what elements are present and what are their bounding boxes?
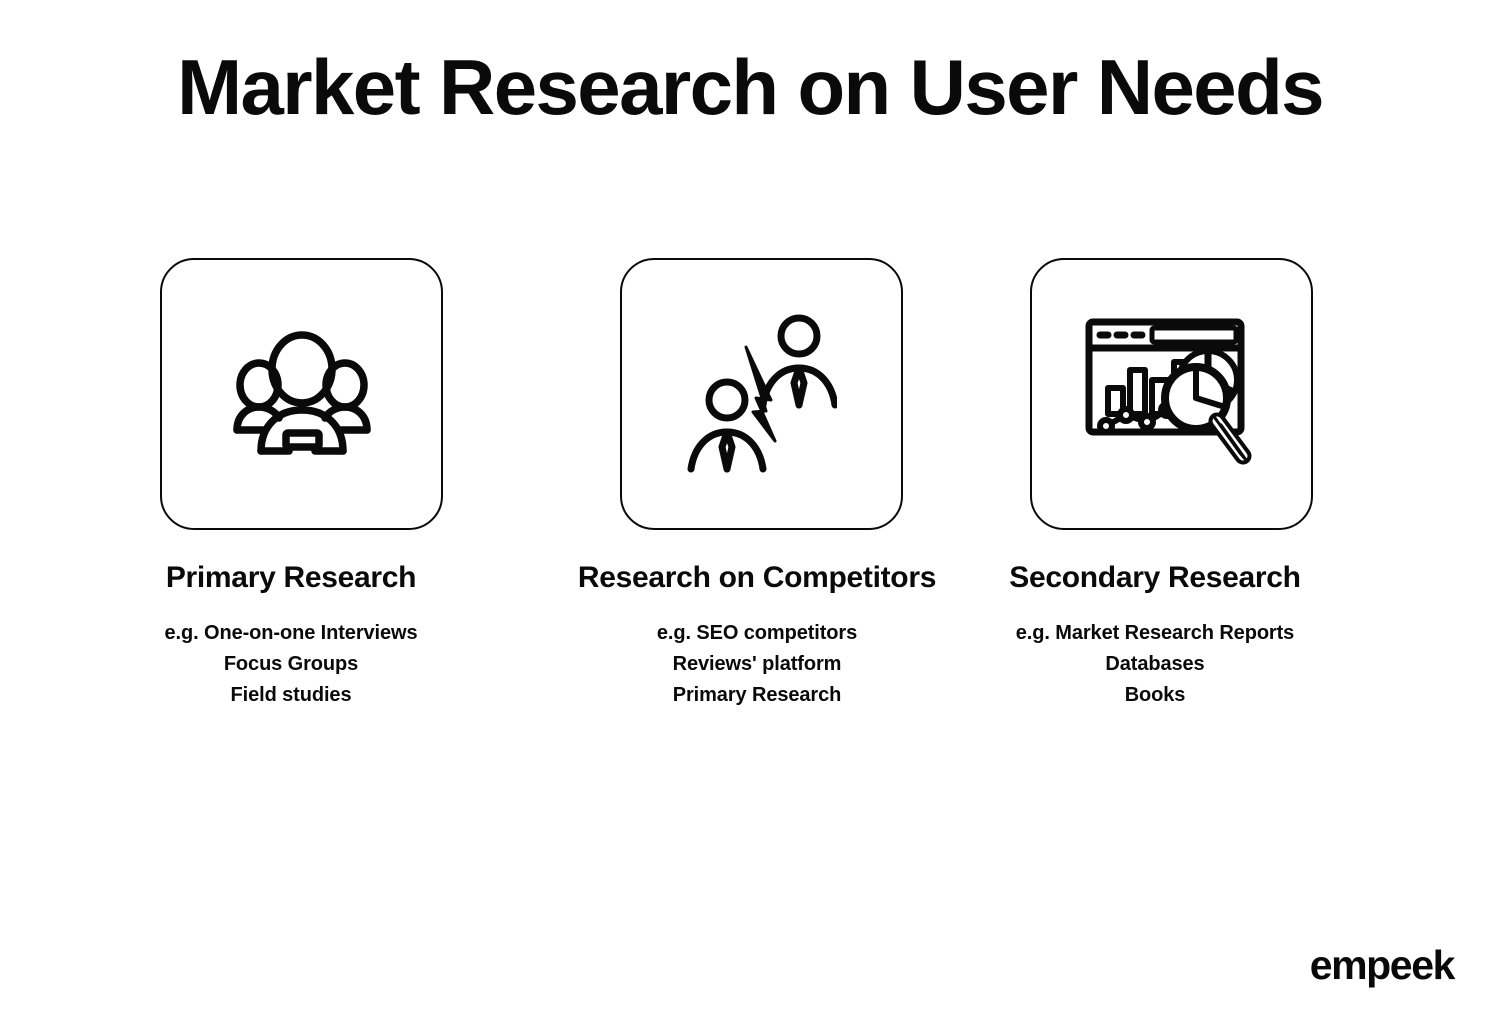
icon-card-research-on-competitors[interactable] [620, 258, 903, 530]
example-line: Books [935, 680, 1375, 711]
column-heading: Secondary Research [935, 560, 1375, 596]
column-heading: Primary Research [71, 560, 511, 596]
example-line: e.g. One-on-one Interviews [71, 618, 511, 649]
column-examples: e.g. One-on-one Interviews Focus Groups … [71, 618, 511, 711]
research-column-secondary: Secondary Research e.g. Market Research … [970, 258, 1410, 711]
example-line: Field studies [71, 680, 511, 711]
brand-logo: empeek [1310, 945, 1454, 986]
analytics-dashboard-search-icon [1084, 314, 1260, 474]
slide-canvas: Market Research on User Needs [0, 0, 1500, 1016]
research-column-primary: Primary Research e.g. One-on-one Intervi… [85, 258, 525, 711]
example-line: Databases [935, 649, 1375, 680]
column-examples: e.g. SEO competitors Reviews' platform P… [537, 618, 977, 711]
icon-card-secondary-research[interactable] [1030, 258, 1313, 530]
research-columns: Primary Research e.g. One-on-one Intervi… [0, 258, 1500, 778]
example-line: Reviews' platform [537, 649, 977, 680]
column-heading: Research on Competitors [537, 560, 977, 596]
example-line: Focus Groups [71, 649, 511, 680]
example-line: e.g. SEO competitors [537, 618, 977, 649]
example-line: Primary Research [537, 680, 977, 711]
page-title: Market Research on User Needs [0, 46, 1500, 129]
competitors-clash-icon [687, 312, 837, 477]
focus-group-icon [217, 329, 387, 459]
research-column-competitors: Research on Competitors e.g. SEO competi… [537, 258, 977, 711]
example-line: e.g. Market Research Reports [935, 618, 1375, 649]
column-examples: e.g. Market Research Reports Databases B… [935, 618, 1375, 711]
icon-card-primary-research[interactable] [160, 258, 443, 530]
